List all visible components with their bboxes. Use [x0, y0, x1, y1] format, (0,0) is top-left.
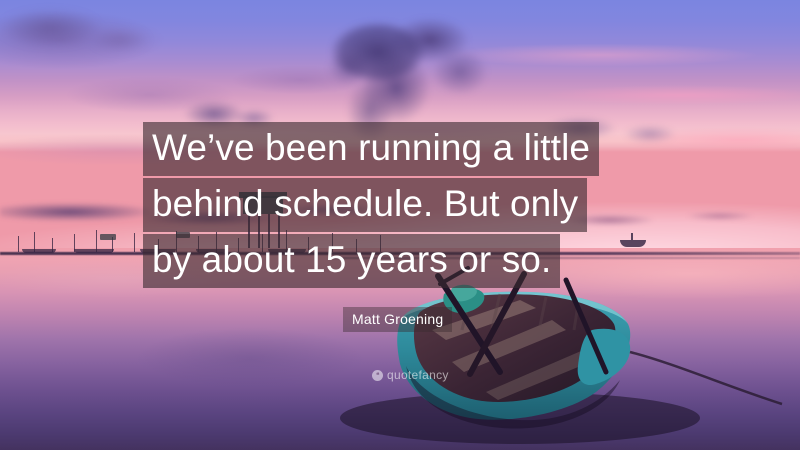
quote-badge-icon: ❝: [372, 370, 383, 381]
quote-text: We’ve been running a little behind sched…: [143, 122, 703, 290]
quote-poster: We’ve been running a little behind sched…: [0, 0, 800, 450]
quote-line-2: behind schedule. But only: [143, 178, 587, 232]
quote-line-3: by about 15 years or so.: [143, 234, 560, 288]
quote-author: Matt Groening: [343, 307, 452, 332]
watermark-label: quotefancy: [387, 368, 449, 382]
quote-line-1: We’ve been running a little: [143, 122, 599, 176]
quotefancy-watermark[interactable]: ❝ quotefancy: [372, 368, 449, 382]
